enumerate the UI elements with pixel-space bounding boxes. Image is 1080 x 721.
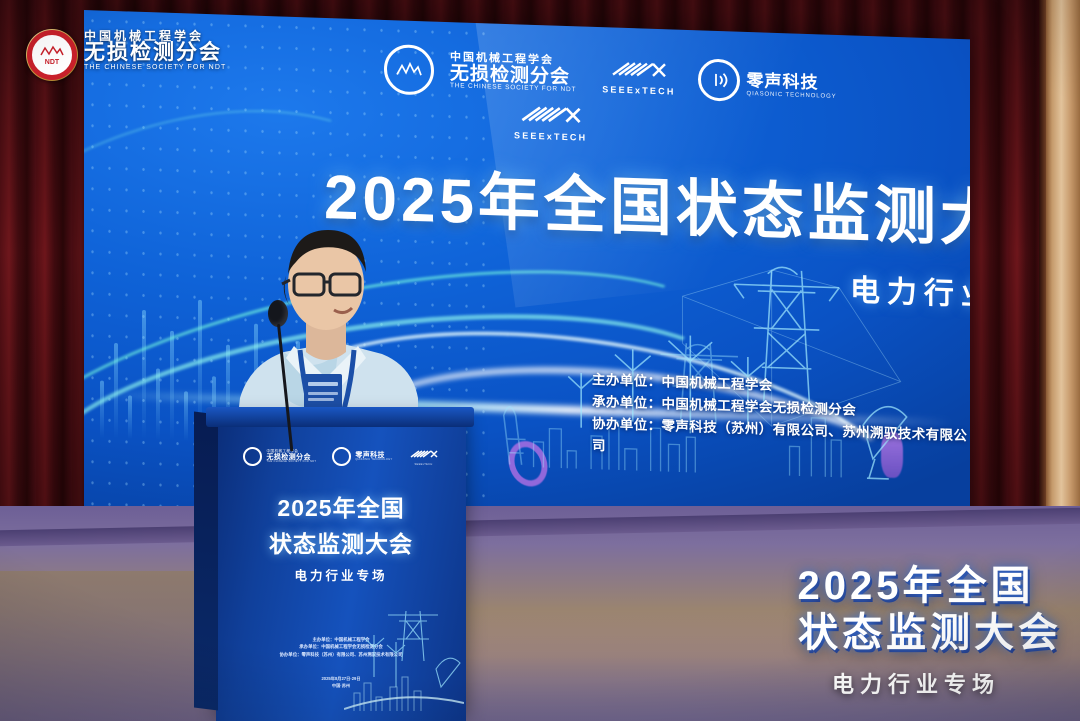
ndt-circle-logo xyxy=(384,44,434,96)
podium-logo2-line2: SEEExTECH xyxy=(409,464,439,467)
microphone-head xyxy=(268,300,288,327)
microphone xyxy=(268,300,288,327)
caption-overlay: 2025年全国 状态监测大会 电力行业专场 xyxy=(770,563,1062,699)
caption-line2: 状态监测大会 xyxy=(798,610,1062,657)
caption-line1: 2025年全国 xyxy=(770,563,1062,610)
podium-logo0-line3: THE CHINESE SOCIETY FOR NDT xyxy=(266,461,316,464)
podium-title-line1: 2025年全国 xyxy=(216,489,466,523)
csndt-wordmark: 中国机械工程学会 无损检测分会 THE CHINESE SOCIETY FOR … xyxy=(450,53,576,94)
csndt-line3: THE CHINESE SOCIETY FOR NDT xyxy=(450,83,576,94)
csndt-curtain-line3: THE CHINESE SOCIETY FOR NDT xyxy=(84,64,226,71)
qiasonic-name-cn: 零声科技 xyxy=(747,65,837,93)
ndt-circle-logo-gold: NDT xyxy=(26,29,78,81)
seeex-stripes-logo: SEEExTECH xyxy=(602,58,675,96)
csndt-wordmark-curtain: 中国机械工程学会 无损检测分会 THE CHINESE SOCIETY FOR … xyxy=(84,30,226,72)
qiasonic-logo: 零声科技 QIASONIC TECHNOLOGY xyxy=(698,58,837,105)
seeex-stripes-logo-2: SEEExTECH xyxy=(514,102,587,142)
podium-artwork xyxy=(344,591,464,721)
seeextech-wordmark: SEEExTECH xyxy=(602,85,675,96)
podium-side-panel xyxy=(194,412,218,711)
speaker-podium: 中国机械工程学会 无损检测分会 THE CHINESE SOCIETY FOR … xyxy=(216,421,466,721)
conference-photo-scene: 中国机械工程学会 无损检测分会 THE CHINESE SOCIETY FOR … xyxy=(0,0,1080,721)
podium-title-block: 2025年全国 状态监测大会 电力行业专场 xyxy=(216,489,466,584)
seeex-stripes-logo-small xyxy=(409,449,439,459)
sound-wave-circle-logo xyxy=(698,58,740,101)
podium-logo1-line3: QIASONIC TECHNOLOGY xyxy=(355,459,392,462)
sound-wave-circle-logo-small xyxy=(332,447,351,466)
transmission-tower-icon xyxy=(504,406,526,464)
podium-logo-row: 中国机械工程学会 无损检测分会 THE CHINESE SOCIETY FOR … xyxy=(216,421,466,467)
wood-wall-pillar xyxy=(1046,0,1080,560)
podium-top-surface xyxy=(206,407,474,427)
svg-text:NDT: NDT xyxy=(45,59,60,66)
podium-subtitle: 电力行业专场 xyxy=(216,565,466,584)
organizer-block: 主办单位：中国机械工程学会 承办单位：中国机械工程学会无损检测分会 协办单位：零… xyxy=(592,369,970,469)
podium-title-line2: 状态监测大会 xyxy=(216,525,466,559)
ndt-circle-logo-small xyxy=(243,447,262,466)
caption-line3: 电力行业专场 xyxy=(770,667,1062,699)
stage-carpet-left xyxy=(0,571,220,721)
csndt-curtain-line2: 无损检测分会 xyxy=(84,42,226,64)
